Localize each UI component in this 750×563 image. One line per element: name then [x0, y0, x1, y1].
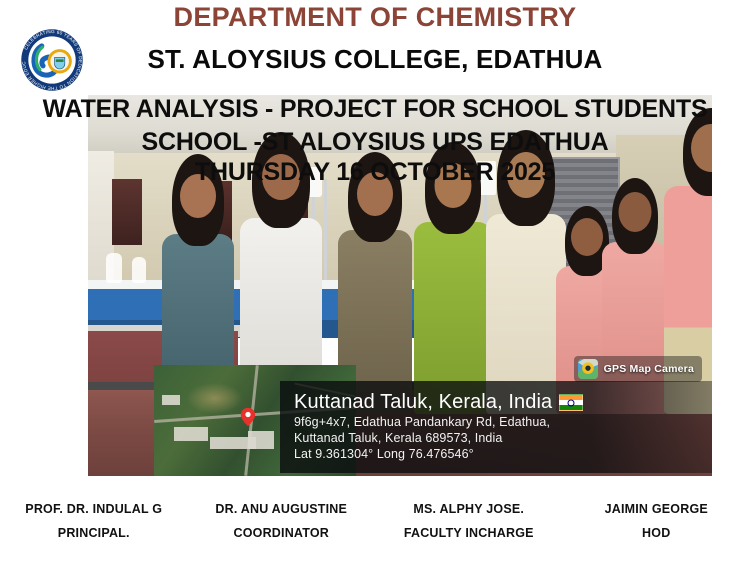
gps-coordinates: Lat 9.361304° Long 76.476546° [294, 446, 698, 462]
gps-address-line-1: 9f6g+4x7, Edathua Pandankary Rd, Edathua… [294, 414, 698, 430]
gps-map-camera-label: GPS Map Camera [604, 363, 694, 375]
india-flag-icon [559, 394, 583, 411]
event-title-line-3: THURSDAY 16 OCTOBER 2025 [0, 158, 750, 187]
person-figure [412, 158, 494, 414]
signatory-faculty-incharge: MS. ALPHY JOSE. FACULTY INCHARGE [375, 498, 563, 558]
signatory-row: PROF. DR. INDULAL G PRINCIPAL. DR. ANU A… [0, 498, 750, 558]
gps-place-text: Kuttanad Taluk, Kerala, India [294, 391, 552, 414]
page-title-department: DEPARTMENT OF CHEMISTRY [0, 2, 750, 33]
signatory-coordinator: DR. ANU AUGUSTINE COORDINATOR [188, 498, 376, 558]
event-title-line-1: WATER ANALYSIS - PROJECT FOR SCHOOL STUD… [0, 95, 750, 124]
signatory-name: DR. ANU AUGUSTINE [215, 502, 347, 516]
signatory-role: HOD [563, 522, 750, 546]
signatory-hod: JAIMIN GEORGE HOD [563, 498, 750, 558]
signatory-name: MS. ALPHY JOSE. [413, 502, 524, 516]
signatory-name: PROF. DR. INDULAL G [25, 502, 162, 516]
page-title-college: ST. ALOYSIUS COLLEGE, EDATHUA [0, 44, 750, 75]
gps-info-panel: Kuttanad Taluk, Kerala, India 9f6g+4x7, … [280, 381, 712, 473]
map-location-pin [238, 405, 258, 425]
college-anniversary-logo: CELEBRATING 60 YEARS OF DEDICATION TO TH… [20, 28, 84, 92]
gps-map-camera-badge: GPS Map Camera [574, 356, 702, 382]
gps-address-line-2: Kuttanad Taluk, Kerala 689573, India [294, 430, 698, 446]
event-title-line-2: SCHOOL -ST ALOYSIUS UPS EDATHUA [0, 128, 750, 157]
gps-map-camera-icon [578, 359, 598, 379]
poster-root: CELEBRATING 60 YEARS OF DEDICATION TO TH… [0, 0, 750, 563]
signatory-principal: PROF. DR. INDULAL G PRINCIPAL. [0, 498, 188, 558]
signatory-role: COORDINATOR [188, 522, 376, 546]
signatory-name: JAIMIN GEORGE [605, 502, 708, 516]
gps-place-name: Kuttanad Taluk, Kerala, India [294, 391, 698, 414]
signatory-role: PRINCIPAL. [0, 522, 188, 546]
signatory-role: FACULTY INCHARGE [375, 522, 563, 546]
